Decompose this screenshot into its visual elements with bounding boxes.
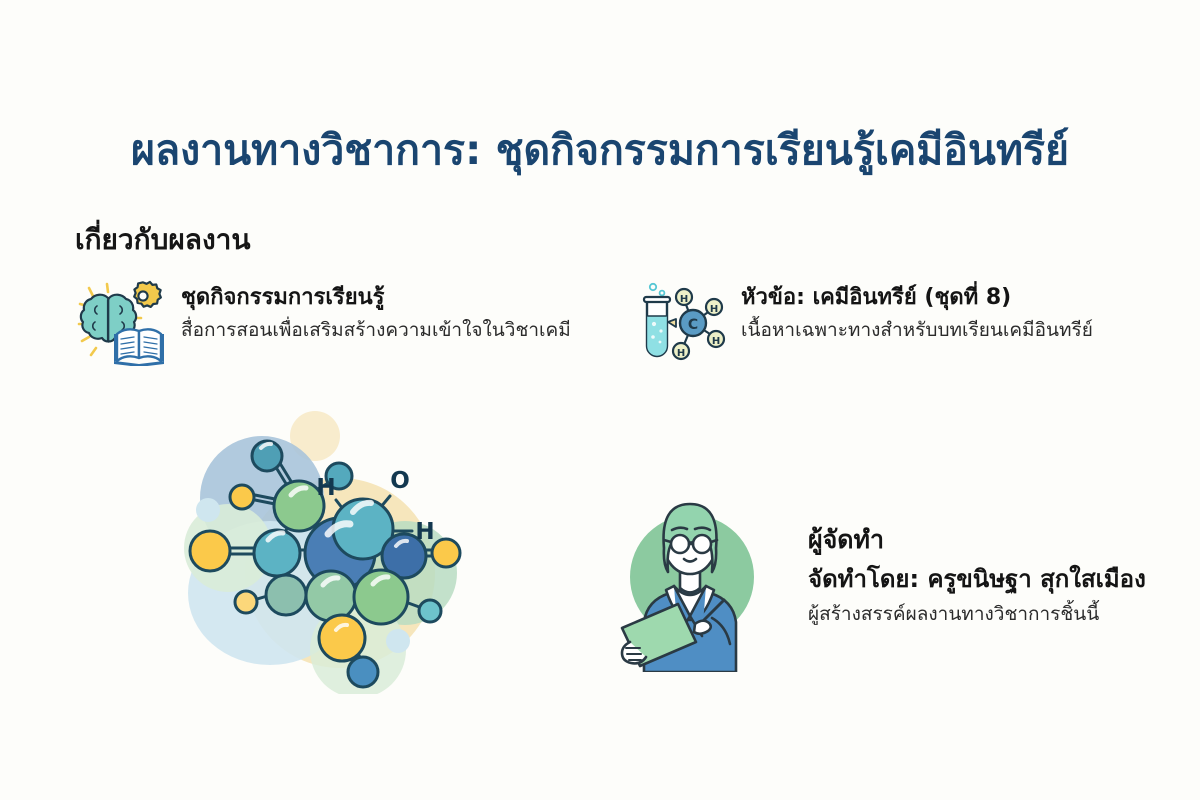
info-card-topic: C H H H H หัวข้อ: เคมีอินทรีย์ (ชุดท xyxy=(635,278,1135,366)
slide-canvas: ผลงานทางวิชาการ: ชุดกิจกรรมการเรียนรู้เค… xyxy=(0,0,1200,800)
svg-text:H: H xyxy=(677,348,685,359)
organic-molecule-illustration: H O H xyxy=(150,398,500,694)
atom-label-h-right: H xyxy=(415,519,434,545)
author-role: ผู้สร้างสรรค์ผลงานทางวิชาการชิ้นนี้ xyxy=(808,602,1146,628)
info-card-description: สื่อการสอนเพื่อเสริมสร้างความเข้าใจในวิช… xyxy=(181,318,571,344)
info-card-title: ชุดกิจกรรมการเรียนรู้ xyxy=(181,284,571,313)
atom-label-o: O xyxy=(390,468,410,494)
teacher-with-tablet-illustration xyxy=(600,482,780,672)
info-card-text: ชุดกิจกรรมการเรียนรู้ สื่อการสอนเพื่อเสร… xyxy=(181,278,571,343)
brain-gear-book-icon xyxy=(75,278,167,366)
author-text: ผู้จัดทำ จัดทำโดย: ครูขนิษฐา สุกใสเมือง … xyxy=(808,523,1146,632)
info-card-learning-set: ชุดกิจกรรมการเรียนรู้ สื่อการสอนเพื่อเสร… xyxy=(75,278,575,366)
svg-text:H: H xyxy=(712,336,720,347)
author-heading: ผู้จัดทำ xyxy=(808,523,1146,557)
info-card-row: ชุดกิจกรรมการเรียนรู้ สื่อการสอนเพื่อเสร… xyxy=(75,278,1135,366)
author-name: จัดทำโดย: ครูขนิษฐา สุกใสเมือง xyxy=(808,563,1146,597)
author-block: ผู้จัดทำ จัดทำโดย: ครูขนิษฐา สุกใสเมือง … xyxy=(600,482,1160,672)
info-card-description: เนื้อหาเฉพาะทางสำหรับบทเรียนเคมีอินทรีย์ xyxy=(741,318,1093,344)
page-title: ผลงานทางวิชาการ: ชุดกิจกรรมการเรียนรู้เค… xyxy=(0,126,1200,175)
info-card-text: หัวข้อ: เคมีอินทรีย์ (ชุดที่ 8) เนื้อหาเ… xyxy=(741,278,1093,343)
svg-text:H: H xyxy=(710,304,718,315)
info-card-title: หัวข้อ: เคมีอินทรีย์ (ชุดที่ 8) xyxy=(741,284,1093,313)
section-heading: เกี่ยวกับผลงาน xyxy=(75,222,250,257)
svg-text:H: H xyxy=(680,294,688,305)
svg-text:C: C xyxy=(688,317,698,333)
test-tube-molecule-icon: C H H H H xyxy=(635,278,727,366)
atom-label-h-top: H xyxy=(316,475,335,501)
